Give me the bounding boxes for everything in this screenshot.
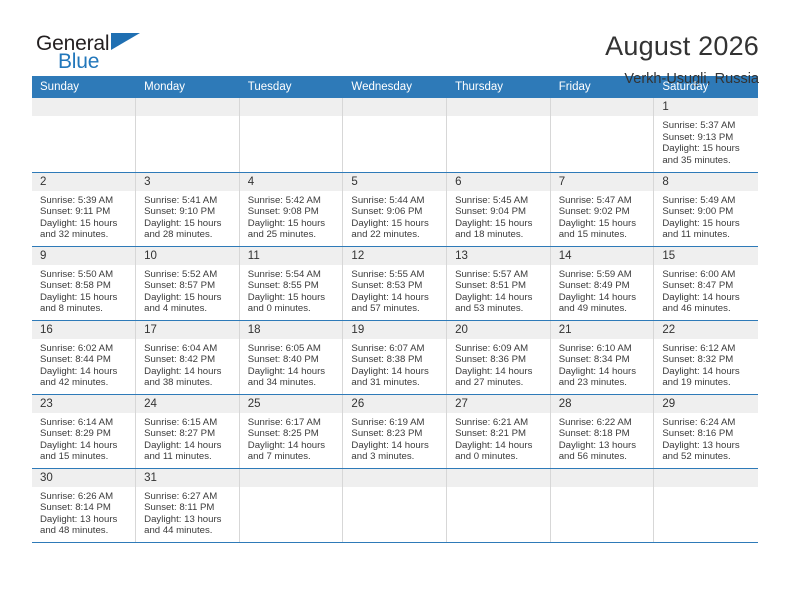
daylight-text-line1: Daylight: 15 hours (662, 143, 751, 155)
day-number: 21 (551, 321, 654, 339)
day-details: Sunrise: 6:22 AMSunset: 8:18 PMDaylight:… (551, 413, 654, 463)
day-details: Sunrise: 5:44 AMSunset: 9:06 PMDaylight:… (343, 191, 446, 241)
daylight-text-line2: and 44 minutes. (144, 525, 233, 537)
day-number: 6 (447, 173, 550, 191)
sunrise-text: Sunrise: 6:24 AM (662, 417, 751, 429)
day-number: 15 (654, 247, 757, 265)
day-details: Sunrise: 6:21 AMSunset: 8:21 PMDaylight:… (447, 413, 550, 463)
day-details: Sunrise: 5:37 AMSunset: 9:13 PMDaylight:… (654, 116, 757, 166)
calendar-week-row: 2Sunrise: 5:39 AMSunset: 9:11 PMDaylight… (32, 172, 758, 246)
daylight-text-line1: Daylight: 15 hours (248, 292, 337, 304)
daylight-text-line2: and 46 minutes. (662, 303, 751, 315)
daylight-text-line2: and 15 minutes. (559, 229, 648, 241)
sunset-text: Sunset: 8:47 PM (662, 280, 751, 292)
daylight-text-line1: Daylight: 15 hours (144, 218, 233, 230)
daylight-text-line1: Daylight: 14 hours (144, 440, 233, 452)
day-number: 18 (240, 321, 343, 339)
sunrise-text: Sunrise: 5:49 AM (662, 195, 751, 207)
daylight-text-line1: Daylight: 14 hours (248, 366, 337, 378)
day-number: 24 (136, 395, 239, 413)
day-number (654, 469, 757, 487)
weekday-header-sunday: Sunday (32, 76, 136, 98)
sunset-text: Sunset: 9:08 PM (248, 206, 337, 218)
daylight-text-line1: Daylight: 14 hours (455, 440, 544, 452)
calendar-cell-empty (654, 468, 758, 542)
day-details: Sunrise: 5:54 AMSunset: 8:55 PMDaylight:… (240, 265, 343, 315)
day-number: 2 (32, 173, 135, 191)
day-number: 23 (32, 395, 135, 413)
daylight-text-line1: Daylight: 14 hours (455, 366, 544, 378)
general-blue-logo[interactable]: General Blue (36, 30, 148, 78)
calendar-day-cell[interactable]: 28Sunrise: 6:22 AMSunset: 8:18 PMDayligh… (550, 394, 654, 468)
calendar-day-cell[interactable]: 1Sunrise: 5:37 AMSunset: 9:13 PMDaylight… (654, 98, 758, 172)
sunrise-text: Sunrise: 6:04 AM (144, 343, 233, 355)
daylight-text-line1: Daylight: 15 hours (248, 218, 337, 230)
sunrise-text: Sunrise: 6:10 AM (559, 343, 648, 355)
daylight-text-line1: Daylight: 14 hours (40, 366, 129, 378)
calendar-day-cell[interactable]: 20Sunrise: 6:09 AMSunset: 8:36 PMDayligh… (447, 320, 551, 394)
day-details: Sunrise: 6:17 AMSunset: 8:25 PMDaylight:… (240, 413, 343, 463)
sunset-text: Sunset: 9:11 PM (40, 206, 129, 218)
calendar-day-cell[interactable]: 17Sunrise: 6:04 AMSunset: 8:42 PMDayligh… (136, 320, 240, 394)
sunset-text: Sunset: 8:27 PM (144, 428, 233, 440)
daylight-text-line2: and 34 minutes. (248, 377, 337, 389)
daylight-text-line2: and 56 minutes. (559, 451, 648, 463)
day-details: Sunrise: 5:45 AMSunset: 9:04 PMDaylight:… (447, 191, 550, 241)
sunrise-text: Sunrise: 6:07 AM (351, 343, 440, 355)
day-details: Sunrise: 6:09 AMSunset: 8:36 PMDaylight:… (447, 339, 550, 389)
sunset-text: Sunset: 8:25 PM (248, 428, 337, 440)
daylight-text-line1: Daylight: 14 hours (662, 366, 751, 378)
calendar-week-row: 9Sunrise: 5:50 AMSunset: 8:58 PMDaylight… (32, 246, 758, 320)
sunrise-text: Sunrise: 6:14 AM (40, 417, 129, 429)
daylight-text-line2: and 38 minutes. (144, 377, 233, 389)
daylight-text-line2: and 0 minutes. (248, 303, 337, 315)
daylight-text-line1: Daylight: 15 hours (144, 292, 233, 304)
day-number: 27 (447, 395, 550, 413)
daylight-text-line2: and 48 minutes. (40, 525, 129, 537)
sunrise-text: Sunrise: 6:02 AM (40, 343, 129, 355)
day-number: 5 (343, 173, 446, 191)
daylight-text-line2: and 18 minutes. (455, 229, 544, 241)
blue-triangle-flag-icon (111, 33, 140, 50)
sunrise-text: Sunrise: 5:52 AM (144, 269, 233, 281)
day-details: Sunrise: 6:15 AMSunset: 8:27 PMDaylight:… (136, 413, 239, 463)
daylight-text-line2: and 11 minutes. (144, 451, 233, 463)
day-number: 7 (551, 173, 654, 191)
calendar-day-cell[interactable]: 29Sunrise: 6:24 AMSunset: 8:16 PMDayligh… (654, 394, 758, 468)
daylight-text-line2: and 53 minutes. (455, 303, 544, 315)
daylight-text-line2: and 25 minutes. (248, 229, 337, 241)
sunset-text: Sunset: 8:21 PM (455, 428, 544, 440)
day-details: Sunrise: 5:50 AMSunset: 8:58 PMDaylight:… (32, 265, 135, 315)
calendar-day-cell[interactable]: 7Sunrise: 5:47 AMSunset: 9:02 PMDaylight… (550, 172, 654, 246)
sunset-text: Sunset: 8:34 PM (559, 354, 648, 366)
calendar-day-cell[interactable]: 2Sunrise: 5:39 AMSunset: 9:11 PMDaylight… (32, 172, 136, 246)
sunset-text: Sunset: 8:44 PM (40, 354, 129, 366)
day-number (447, 469, 550, 487)
sunset-text: Sunset: 8:40 PM (248, 354, 337, 366)
day-details: Sunrise: 5:42 AMSunset: 9:08 PMDaylight:… (240, 191, 343, 241)
weekday-header-wednesday: Wednesday (343, 76, 447, 98)
calendar-day-cell[interactable]: 9Sunrise: 5:50 AMSunset: 8:58 PMDaylight… (32, 246, 136, 320)
day-number (551, 469, 654, 487)
day-details: Sunrise: 5:39 AMSunset: 9:11 PMDaylight:… (32, 191, 135, 241)
calendar-week-row: 23Sunrise: 6:14 AMSunset: 8:29 PMDayligh… (32, 394, 758, 468)
daylight-text-line1: Daylight: 14 hours (662, 292, 751, 304)
calendar-cell-empty (136, 98, 240, 172)
daylight-text-line2: and 23 minutes. (559, 377, 648, 389)
daylight-text-line1: Daylight: 15 hours (40, 292, 129, 304)
sunrise-text: Sunrise: 5:42 AM (248, 195, 337, 207)
day-details: Sunrise: 5:55 AMSunset: 8:53 PMDaylight:… (343, 265, 446, 315)
calendar-week-row: 1Sunrise: 5:37 AMSunset: 9:13 PMDaylight… (32, 98, 758, 172)
day-number: 25 (240, 395, 343, 413)
day-details: Sunrise: 6:26 AMSunset: 8:14 PMDaylight:… (32, 487, 135, 537)
sunrise-text: Sunrise: 6:19 AM (351, 417, 440, 429)
calendar-day-cell[interactable]: 19Sunrise: 6:07 AMSunset: 8:38 PMDayligh… (343, 320, 447, 394)
day-number (343, 469, 446, 487)
calendar-cell-empty (343, 468, 447, 542)
sunset-text: Sunset: 8:36 PM (455, 354, 544, 366)
daylight-text-line1: Daylight: 13 hours (40, 514, 129, 526)
day-number (32, 98, 135, 116)
calendar-day-cell[interactable]: 12Sunrise: 5:55 AMSunset: 8:53 PMDayligh… (343, 246, 447, 320)
calendar-day-cell[interactable]: 4Sunrise: 5:42 AMSunset: 9:08 PMDaylight… (239, 172, 343, 246)
day-number: 8 (654, 173, 757, 191)
day-details: Sunrise: 6:10 AMSunset: 8:34 PMDaylight:… (551, 339, 654, 389)
sunrise-text: Sunrise: 5:54 AM (248, 269, 337, 281)
daylight-text-line1: Daylight: 13 hours (662, 440, 751, 452)
daylight-text-line2: and 35 minutes. (662, 155, 751, 167)
daylight-text-line1: Daylight: 14 hours (351, 440, 440, 452)
sunset-text: Sunset: 9:00 PM (662, 206, 751, 218)
daylight-text-line2: and 8 minutes. (40, 303, 129, 315)
daylight-text-line2: and 31 minutes. (351, 377, 440, 389)
calendar-day-cell[interactable]: 10Sunrise: 5:52 AMSunset: 8:57 PMDayligh… (136, 246, 240, 320)
daylight-text-line2: and 42 minutes. (40, 377, 129, 389)
daylight-text-line1: Daylight: 15 hours (40, 218, 129, 230)
calendar-day-cell[interactable]: 8Sunrise: 5:49 AMSunset: 9:00 PMDaylight… (654, 172, 758, 246)
daylight-text-line2: and 4 minutes. (144, 303, 233, 315)
sunset-text: Sunset: 8:32 PM (662, 354, 751, 366)
calendar-cell-empty (550, 468, 654, 542)
sunrise-text: Sunrise: 5:37 AM (662, 120, 751, 132)
daylight-text-line1: Daylight: 15 hours (351, 218, 440, 230)
day-details: Sunrise: 6:19 AMSunset: 8:23 PMDaylight:… (343, 413, 446, 463)
day-details: Sunrise: 5:59 AMSunset: 8:49 PMDaylight:… (551, 265, 654, 315)
sunrise-text: Sunrise: 5:41 AM (144, 195, 233, 207)
weekday-header-monday: Monday (136, 76, 240, 98)
daylight-text-line1: Daylight: 14 hours (351, 366, 440, 378)
day-number: 29 (654, 395, 757, 413)
calendar-week-row: 16Sunrise: 6:02 AMSunset: 8:44 PMDayligh… (32, 320, 758, 394)
day-number (136, 98, 239, 116)
page-header: General Blue August 2026 Verkh-Usugli, R… (0, 0, 792, 76)
sunrise-text: Sunrise: 5:57 AM (455, 269, 544, 281)
daylight-text-line1: Daylight: 13 hours (144, 514, 233, 526)
calendar-day-cell[interactable]: 25Sunrise: 6:17 AMSunset: 8:25 PMDayligh… (239, 394, 343, 468)
day-details: Sunrise: 5:52 AMSunset: 8:57 PMDaylight:… (136, 265, 239, 315)
day-details: Sunrise: 6:00 AMSunset: 8:47 PMDaylight:… (654, 265, 757, 315)
day-details: Sunrise: 5:47 AMSunset: 9:02 PMDaylight:… (551, 191, 654, 241)
sunset-text: Sunset: 9:13 PM (662, 132, 751, 144)
sunrise-sunset-calendar: Sunday Monday Tuesday Wednesday Thursday… (32, 76, 758, 543)
sunset-text: Sunset: 8:58 PM (40, 280, 129, 292)
calendar-page: General Blue August 2026 Verkh-Usugli, R… (0, 0, 792, 612)
calendar-cell-empty (239, 98, 343, 172)
sunrise-text: Sunrise: 5:45 AM (455, 195, 544, 207)
calendar-day-cell[interactable]: 5Sunrise: 5:44 AMSunset: 9:06 PMDaylight… (343, 172, 447, 246)
daylight-text-line2: and 19 minutes. (662, 377, 751, 389)
day-details: Sunrise: 5:49 AMSunset: 9:00 PMDaylight:… (654, 191, 757, 241)
day-number (447, 98, 550, 116)
calendar-day-cell[interactable]: 16Sunrise: 6:02 AMSunset: 8:44 PMDayligh… (32, 320, 136, 394)
sunset-text: Sunset: 8:16 PM (662, 428, 751, 440)
day-number: 14 (551, 247, 654, 265)
sunrise-text: Sunrise: 6:22 AM (559, 417, 648, 429)
calendar-day-cell[interactable]: 24Sunrise: 6:15 AMSunset: 8:27 PMDayligh… (136, 394, 240, 468)
calendar-cell-empty (447, 468, 551, 542)
daylight-text-line2: and 28 minutes. (144, 229, 233, 241)
daylight-text-line1: Daylight: 15 hours (559, 218, 648, 230)
daylight-text-line2: and 52 minutes. (662, 451, 751, 463)
day-number: 20 (447, 321, 550, 339)
sunrise-text: Sunrise: 6:12 AM (662, 343, 751, 355)
sunrise-text: Sunrise: 5:39 AM (40, 195, 129, 207)
calendar-day-cell[interactable]: 15Sunrise: 6:00 AMSunset: 8:47 PMDayligh… (654, 246, 758, 320)
daylight-text-line1: Daylight: 14 hours (559, 366, 648, 378)
sunset-text: Sunset: 9:04 PM (455, 206, 544, 218)
calendar-day-cell[interactable]: 18Sunrise: 6:05 AMSunset: 8:40 PMDayligh… (239, 320, 343, 394)
calendar-day-cell[interactable]: 13Sunrise: 5:57 AMSunset: 8:51 PMDayligh… (447, 246, 551, 320)
day-number (240, 98, 343, 116)
calendar-cell-empty (447, 98, 551, 172)
daylight-text-line2: and 57 minutes. (351, 303, 440, 315)
day-number: 28 (551, 395, 654, 413)
daylight-text-line2: and 3 minutes. (351, 451, 440, 463)
day-number: 11 (240, 247, 343, 265)
sunrise-text: Sunrise: 6:09 AM (455, 343, 544, 355)
sunrise-text: Sunrise: 5:59 AM (559, 269, 648, 281)
calendar-cell-empty (550, 98, 654, 172)
day-details: Sunrise: 6:24 AMSunset: 8:16 PMDaylight:… (654, 413, 757, 463)
daylight-text-line1: Daylight: 14 hours (455, 292, 544, 304)
daylight-text-line2: and 0 minutes. (455, 451, 544, 463)
day-details: Sunrise: 6:14 AMSunset: 8:29 PMDaylight:… (32, 413, 135, 463)
calendar-day-cell[interactable]: 22Sunrise: 6:12 AMSunset: 8:32 PMDayligh… (654, 320, 758, 394)
calendar-day-cell[interactable]: 31Sunrise: 6:27 AMSunset: 8:11 PMDayligh… (136, 468, 240, 542)
day-number: 13 (447, 247, 550, 265)
sunset-text: Sunset: 8:38 PM (351, 354, 440, 366)
sunrise-text: Sunrise: 5:47 AM (559, 195, 648, 207)
daylight-text-line2: and 27 minutes. (455, 377, 544, 389)
day-details: Sunrise: 5:41 AMSunset: 9:10 PMDaylight:… (136, 191, 239, 241)
sunset-text: Sunset: 9:06 PM (351, 206, 440, 218)
sunrise-text: Sunrise: 6:05 AM (248, 343, 337, 355)
daylight-text-line1: Daylight: 14 hours (144, 366, 233, 378)
sunrise-text: Sunrise: 6:27 AM (144, 491, 233, 503)
daylight-text-line1: Daylight: 14 hours (351, 292, 440, 304)
day-details: Sunrise: 6:05 AMSunset: 8:40 PMDaylight:… (240, 339, 343, 389)
daylight-text-line2: and 22 minutes. (351, 229, 440, 241)
daylight-text-line2: and 15 minutes. (40, 451, 129, 463)
day-number: 26 (343, 395, 446, 413)
weekday-header-tuesday: Tuesday (239, 76, 343, 98)
sunrise-text: Sunrise: 5:50 AM (40, 269, 129, 281)
calendar-day-cell[interactable]: 21Sunrise: 6:10 AMSunset: 8:34 PMDayligh… (550, 320, 654, 394)
daylight-text-line1: Daylight: 14 hours (248, 440, 337, 452)
sunset-text: Sunset: 8:11 PM (144, 502, 233, 514)
day-number: 4 (240, 173, 343, 191)
weekday-header-thursday: Thursday (447, 76, 551, 98)
calendar-week-row: 30Sunrise: 6:26 AMSunset: 8:14 PMDayligh… (32, 468, 758, 542)
sunset-text: Sunset: 8:14 PM (40, 502, 129, 514)
day-number (240, 469, 343, 487)
calendar-cell-empty (32, 98, 136, 172)
day-number: 30 (32, 469, 135, 487)
calendar-body: 1Sunrise: 5:37 AMSunset: 9:13 PMDaylight… (32, 98, 758, 542)
daylight-text-line2: and 7 minutes. (248, 451, 337, 463)
calendar-cell-empty (239, 468, 343, 542)
calendar-day-cell[interactable]: 23Sunrise: 6:14 AMSunset: 8:29 PMDayligh… (32, 394, 136, 468)
day-number: 16 (32, 321, 135, 339)
day-number: 3 (136, 173, 239, 191)
calendar-day-cell[interactable]: 27Sunrise: 6:21 AMSunset: 8:21 PMDayligh… (447, 394, 551, 468)
daylight-text-line1: Daylight: 14 hours (559, 292, 648, 304)
sunrise-text: Sunrise: 5:55 AM (351, 269, 440, 281)
sunset-text: Sunset: 9:02 PM (559, 206, 648, 218)
daylight-text-line1: Daylight: 15 hours (455, 218, 544, 230)
day-number: 9 (32, 247, 135, 265)
sunset-text: Sunset: 8:51 PM (455, 280, 544, 292)
daylight-text-line2: and 11 minutes. (662, 229, 751, 241)
day-number (343, 98, 446, 116)
calendar-day-cell[interactable]: 30Sunrise: 6:26 AMSunset: 8:14 PMDayligh… (32, 468, 136, 542)
calendar-day-cell[interactable]: 26Sunrise: 6:19 AMSunset: 8:23 PMDayligh… (343, 394, 447, 468)
sunset-text: Sunset: 8:57 PM (144, 280, 233, 292)
calendar-day-cell[interactable]: 3Sunrise: 5:41 AMSunset: 9:10 PMDaylight… (136, 172, 240, 246)
day-number: 1 (654, 98, 757, 116)
day-details: Sunrise: 6:04 AMSunset: 8:42 PMDaylight:… (136, 339, 239, 389)
day-number: 22 (654, 321, 757, 339)
sunset-text: Sunset: 8:18 PM (559, 428, 648, 440)
day-details: Sunrise: 6:02 AMSunset: 8:44 PMDaylight:… (32, 339, 135, 389)
day-number: 10 (136, 247, 239, 265)
day-details: Sunrise: 6:12 AMSunset: 8:32 PMDaylight:… (654, 339, 757, 389)
daylight-text-line1: Daylight: 14 hours (40, 440, 129, 452)
sunrise-text: Sunrise: 6:17 AM (248, 417, 337, 429)
calendar-day-cell[interactable]: 14Sunrise: 5:59 AMSunset: 8:49 PMDayligh… (550, 246, 654, 320)
sunset-text: Sunset: 8:23 PM (351, 428, 440, 440)
sunset-text: Sunset: 8:55 PM (248, 280, 337, 292)
day-number (551, 98, 654, 116)
page-title: August 2026 (605, 30, 759, 62)
sunrise-text: Sunrise: 6:00 AM (662, 269, 751, 281)
day-number: 31 (136, 469, 239, 487)
daylight-text-line2: and 49 minutes. (559, 303, 648, 315)
day-details: Sunrise: 5:57 AMSunset: 8:51 PMDaylight:… (447, 265, 550, 315)
sunrise-text: Sunrise: 6:26 AM (40, 491, 129, 503)
sunset-text: Sunset: 8:42 PM (144, 354, 233, 366)
sunset-text: Sunset: 8:53 PM (351, 280, 440, 292)
sunrise-text: Sunrise: 6:21 AM (455, 417, 544, 429)
calendar-cell-empty (343, 98, 447, 172)
calendar-day-cell[interactable]: 6Sunrise: 5:45 AMSunset: 9:04 PMDaylight… (447, 172, 551, 246)
calendar-day-cell[interactable]: 11Sunrise: 5:54 AMSunset: 8:55 PMDayligh… (239, 246, 343, 320)
logo-text-blue: Blue (58, 50, 99, 74)
day-number: 19 (343, 321, 446, 339)
day-details: Sunrise: 6:27 AMSunset: 8:11 PMDaylight:… (136, 487, 239, 537)
sunset-text: Sunset: 8:49 PM (559, 280, 648, 292)
sunrise-text: Sunrise: 5:44 AM (351, 195, 440, 207)
day-number: 17 (136, 321, 239, 339)
daylight-text-line2: and 32 minutes. (40, 229, 129, 241)
sunset-text: Sunset: 9:10 PM (144, 206, 233, 218)
daylight-text-line1: Daylight: 15 hours (662, 218, 751, 230)
day-details: Sunrise: 6:07 AMSunset: 8:38 PMDaylight:… (343, 339, 446, 389)
daylight-text-line1: Daylight: 13 hours (559, 440, 648, 452)
sunset-text: Sunset: 8:29 PM (40, 428, 129, 440)
day-number: 12 (343, 247, 446, 265)
sunrise-text: Sunrise: 6:15 AM (144, 417, 233, 429)
